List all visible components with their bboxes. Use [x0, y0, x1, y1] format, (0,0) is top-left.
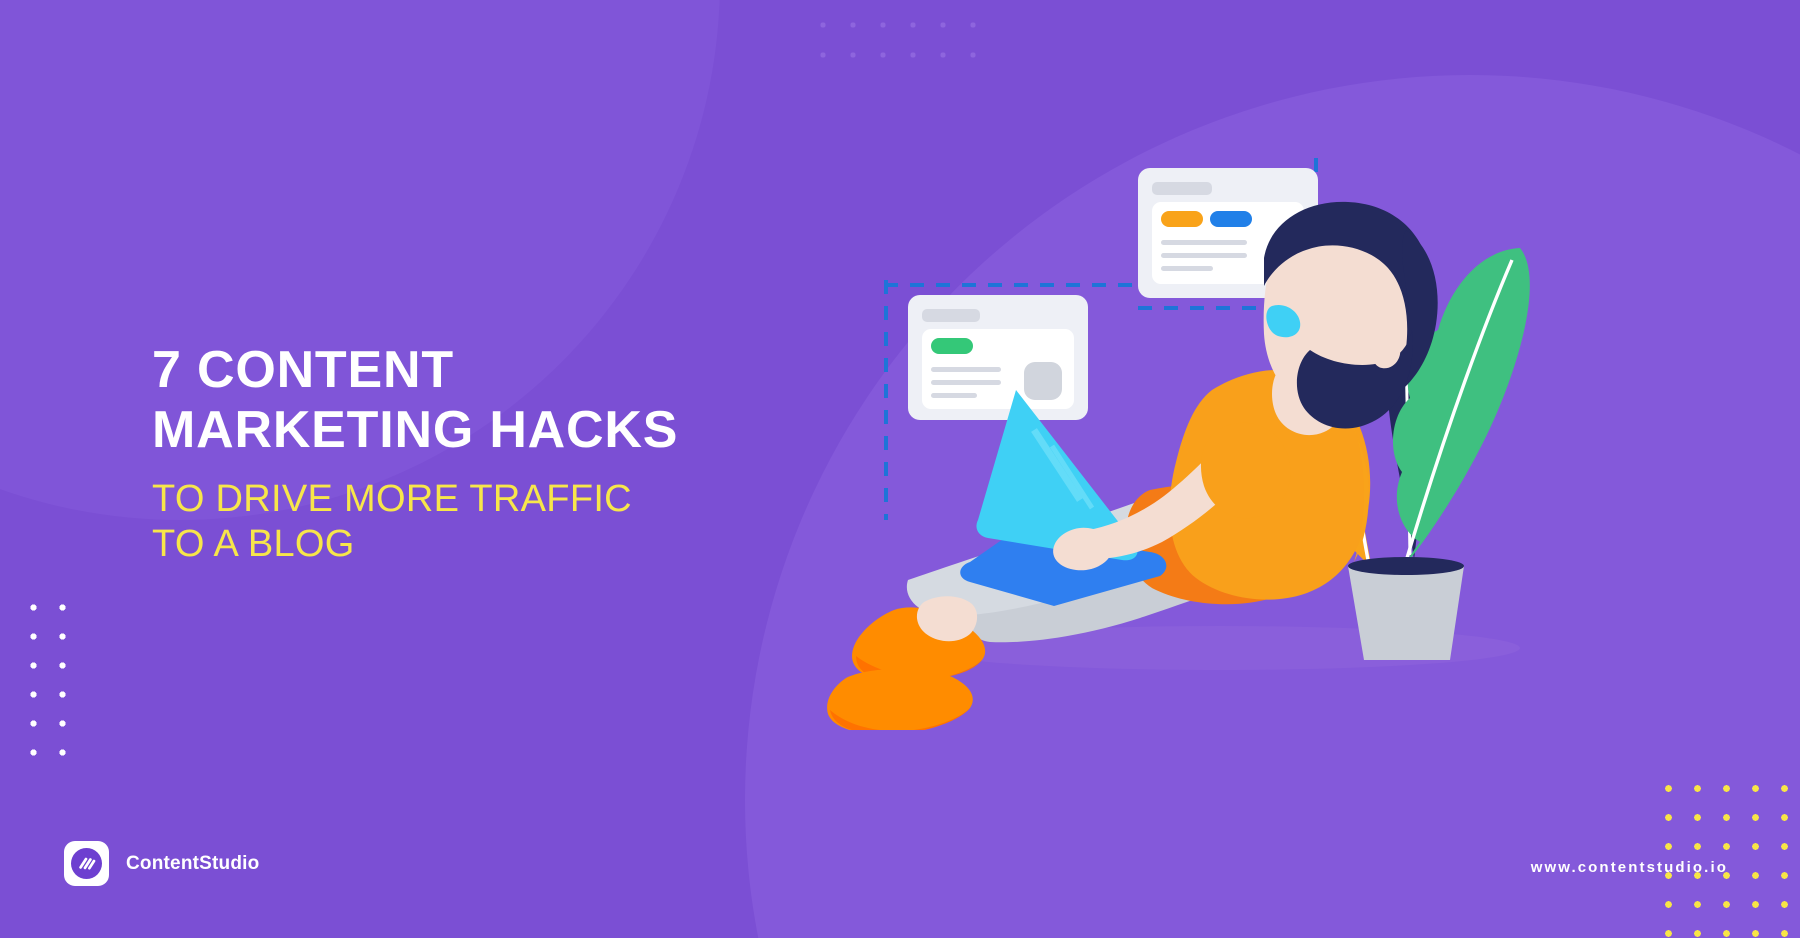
blue-pill: [1210, 211, 1252, 227]
brand-name: ContentStudio: [126, 853, 259, 875]
orange-pill: [1161, 211, 1203, 227]
brand-lockup: ContentStudio: [64, 841, 259, 886]
subhead-line-2: TO A BLOG: [152, 522, 772, 568]
illustration: [820, 90, 1620, 730]
dot-grid-left: [14, 588, 84, 768]
banner-root: 7 CONTENT MARKETING HACKS TO DRIVE MORE …: [0, 0, 1800, 938]
page-subtitle: TO DRIVE MORE TRAFFIC TO A BLOG: [152, 477, 772, 568]
card-thumbnail: [1024, 362, 1062, 400]
headline-line-1: 7 CONTENT: [152, 340, 772, 400]
page-title: 7 CONTENT MARKETING HACKS: [152, 340, 772, 461]
site-url: www.contentstudio.io: [1531, 859, 1728, 876]
subhead-line-1: TO DRIVE MORE TRAFFIC: [152, 477, 772, 523]
shoe-front: [827, 669, 973, 730]
headline-line-2: MARKETING HACKS: [152, 400, 772, 460]
green-pill: [931, 338, 973, 354]
contentstudio-slashes-icon: [64, 841, 109, 886]
dot-grid-top: [800, 0, 980, 80]
content-card-lower: [908, 295, 1088, 420]
text-block: 7 CONTENT MARKETING HACKS TO DRIVE MORE …: [152, 340, 772, 568]
dot-grid-bottom-right: [1648, 768, 1800, 938]
